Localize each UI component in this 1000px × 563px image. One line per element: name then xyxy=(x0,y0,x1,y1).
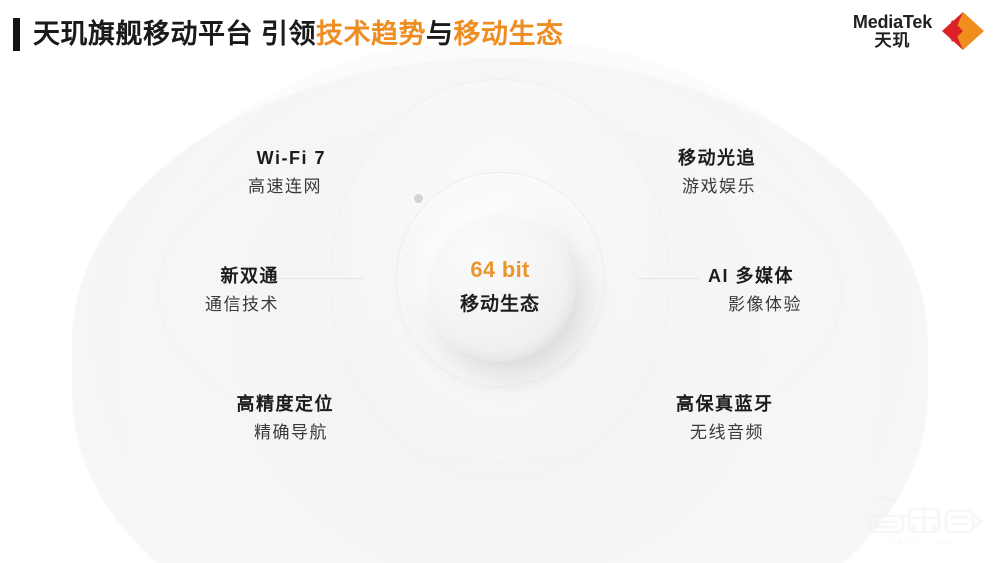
center-sphere-secondary-label: 移动生态 xyxy=(460,289,540,316)
page-title-segment-plain-2: 与 xyxy=(426,19,454,49)
page-title-segment-accent-1: 技术趋势 xyxy=(316,19,426,49)
feature-item-gnss: 高精度定位 精确导航 xyxy=(110,390,334,448)
connector-line-right xyxy=(638,278,700,279)
feature-title: 高保真蓝牙 xyxy=(676,390,876,418)
center-sphere-primary-label: 64 bit xyxy=(470,257,529,283)
zhidx-watermark-logo-icon xyxy=(862,492,986,538)
feature-title: 高精度定位 xyxy=(110,390,334,418)
feature-subtitle: 游戏娱乐 xyxy=(678,172,878,202)
page-title-segment-plain-1: 天玑旗舰移动平台 引领 xyxy=(33,19,316,49)
feature-item-ai-multimedia: AI 多媒体 影像体验 xyxy=(708,262,908,320)
watermark-text: zhidx.com xyxy=(862,538,986,548)
feature-subtitle: 高速连网 xyxy=(130,172,326,202)
slide-canvas: 天玑旗舰移动平台 引领技术趋势与移动生态 MediaTek 天玑 64 bit … xyxy=(0,0,1000,563)
feature-subtitle: 无线音频 xyxy=(676,418,876,448)
feature-subtitle: 影像体验 xyxy=(708,290,908,320)
feature-item-bluetooth: 高保真蓝牙 无线音频 xyxy=(676,390,876,448)
brand-logo-wordmark: MediaTek 天玑 xyxy=(853,13,932,50)
feature-item-newdual: 新双通 通信技术 xyxy=(100,262,279,320)
title-accent-bar xyxy=(13,18,20,51)
page-title: 天玑旗舰移动平台 引领技术趋势与移动生态 xyxy=(33,16,564,52)
feature-title: Wi-Fi 7 xyxy=(130,144,326,172)
feature-title: AI 多媒体 xyxy=(708,262,908,290)
brand-logo: MediaTek 天玑 xyxy=(853,10,986,52)
brand-name: MediaTek xyxy=(853,13,932,32)
feature-subtitle: 精确导航 xyxy=(110,418,334,448)
brand-name-cn: 天玑 xyxy=(853,32,932,50)
mediatek-diamond-arrow-logo-icon xyxy=(940,10,986,52)
watermark: zhidx.com xyxy=(862,492,986,554)
feature-subtitle: 通信技术 xyxy=(100,290,279,320)
feature-item-wifi7: Wi-Fi 7 高速连网 xyxy=(130,144,326,202)
ring-marker-dot-icon xyxy=(414,194,423,203)
connector-line-left xyxy=(268,278,364,279)
feature-title: 新双通 xyxy=(100,262,279,290)
page-title-segment-accent-2: 移动生态 xyxy=(454,19,564,49)
feature-item-raytracing: 移动光追 游戏娱乐 xyxy=(678,144,878,202)
center-sphere: 64 bit 移动生态 xyxy=(425,211,575,361)
feature-title: 移动光追 xyxy=(678,144,878,172)
